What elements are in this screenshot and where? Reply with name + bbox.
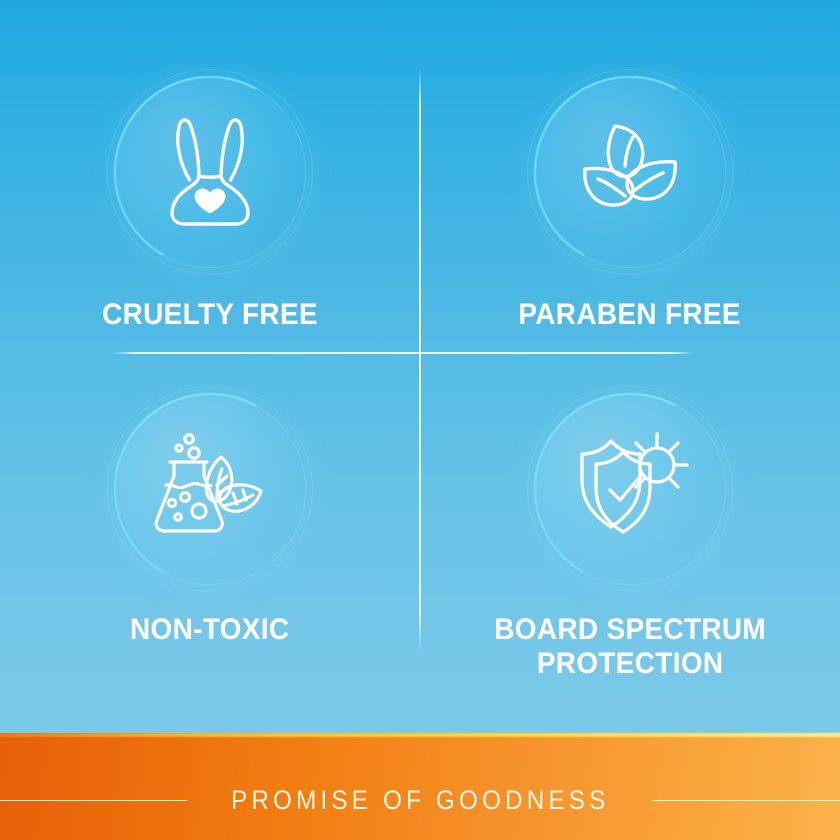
feature-label: PARABEN FREE <box>519 298 742 332</box>
feature-cell-paraben-free: PARABEN FREE <box>420 0 840 365</box>
feature-cell-cruelty-free: CRUELTY FREE <box>0 0 420 365</box>
bunny-heart-icon <box>158 114 262 230</box>
icon-bubble <box>114 76 306 268</box>
feature-label-line1: BOARD SPECTRUM <box>494 613 766 646</box>
feature-cell-broad-spectrum: BOARD SPECTRUM PROTECTION <box>420 365 840 730</box>
three-leaves-icon <box>571 116 689 228</box>
feature-label: BOARD SPECTRUM PROTECTION <box>494 613 766 680</box>
icon-bubble <box>534 76 726 268</box>
icon-bubble <box>534 393 726 585</box>
banner-rule-right <box>652 800 840 801</box>
vertical-divider <box>419 68 421 651</box>
shield-sun-icon <box>570 430 690 548</box>
feature-label-line2: PROTECTION <box>537 647 724 680</box>
icon-bubble <box>114 393 306 585</box>
flask-leaves-icon <box>149 428 271 550</box>
feature-label: NON-TOXIC <box>130 613 289 647</box>
feature-cell-non-toxic: NON-TOXIC <box>0 365 420 730</box>
banner-title: PROMISE OF GOODNESS <box>231 785 609 816</box>
horizontal-divider <box>112 352 694 354</box>
banner-inner: PROMISE OF GOODNESS <box>0 785 840 816</box>
promise-of-goodness-graphic: CRUELTY FREE <box>0 0 840 840</box>
feature-label: CRUELTY FREE <box>102 298 318 332</box>
banner-rule-left <box>0 800 188 801</box>
feature-grid: CRUELTY FREE <box>0 0 840 730</box>
promise-banner: PROMISE OF GOODNESS <box>0 733 840 840</box>
